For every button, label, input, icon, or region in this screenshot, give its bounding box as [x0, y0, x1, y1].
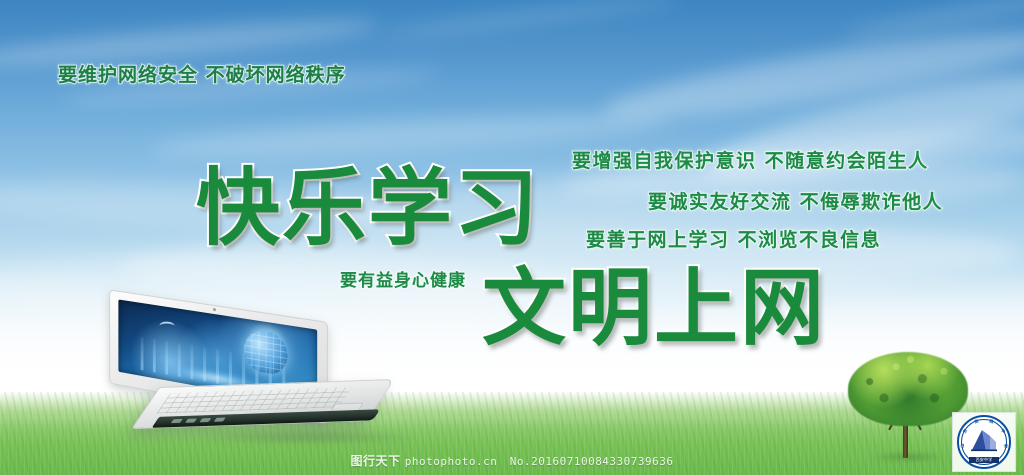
port-icon — [214, 417, 226, 421]
webcam-icon — [213, 308, 216, 311]
port-icon — [185, 418, 197, 422]
bird-icon — [159, 321, 175, 330]
subnote-text: 要有益身心健康 — [340, 266, 466, 291]
cloud-streak — [698, 54, 1024, 198]
rule-line-3: 要善于网上学习 不浏览不良信息 — [586, 225, 881, 252]
top-slogan: 要维护网络安全 不破坏网络秩序 — [58, 60, 346, 87]
port-icon — [199, 418, 211, 422]
headline-primary: 快乐学习 — [196, 162, 540, 254]
watermark: 图行天下 photophoto.cn No.201607100843307396… — [0, 452, 1024, 469]
cloud-streak — [841, 0, 1024, 43]
port-icon — [171, 419, 183, 423]
rule-line-1: 要增强自我保护意识 不随意约会陌生人 — [572, 146, 929, 173]
tree-foliage-detail — [848, 352, 968, 426]
laptop-illustration — [96, 305, 376, 437]
headline-secondary: 文明上网 — [482, 262, 826, 354]
keyboard — [157, 387, 353, 413]
cloud-streak — [599, 16, 1024, 133]
watermark-number: No.20160710084330739636 — [510, 455, 674, 468]
laptop-shadow — [200, 429, 420, 445]
rule-line-2: 要诚实友好交流 不侮辱欺诈他人 — [648, 187, 943, 214]
mountain-book-icon — [970, 428, 998, 452]
watermark-brand: 图行天下 — [350, 454, 400, 468]
watermark-site: photophoto.cn — [405, 455, 498, 468]
poster-canvas: 要维护网络安全 不破坏网络秩序 快乐学习 文明上网 要有益身心健康 要增强自我保… — [0, 0, 1024, 475]
cloud-streak — [380, 0, 679, 42]
